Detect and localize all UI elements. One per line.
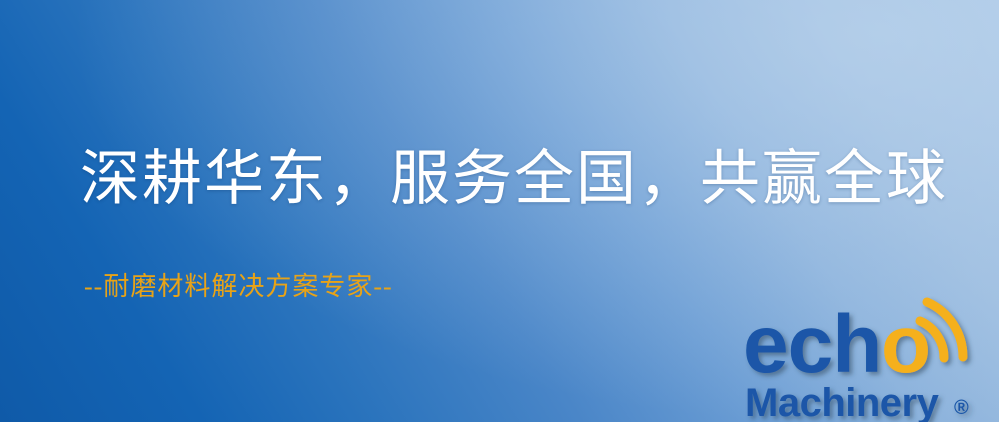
logo-wordmark-machinery: Machinery xyxy=(745,381,940,422)
banner-headline: 深耕华东，服务全国，共赢全球 xyxy=(80,146,948,213)
logo-registered-mark: ® xyxy=(954,397,969,419)
echo-machinery-logo: ech o Machinery ® xyxy=(741,296,993,422)
banner-subtitle: --耐磨材料解决方案专家-- xyxy=(84,266,393,303)
logo-brand-ech: ech xyxy=(743,299,881,390)
logo-brand-o: o xyxy=(881,299,931,390)
promo-banner: 深耕华东，服务全国，共赢全球 --耐磨材料解决方案专家-- ech o Mach… xyxy=(0,0,999,422)
